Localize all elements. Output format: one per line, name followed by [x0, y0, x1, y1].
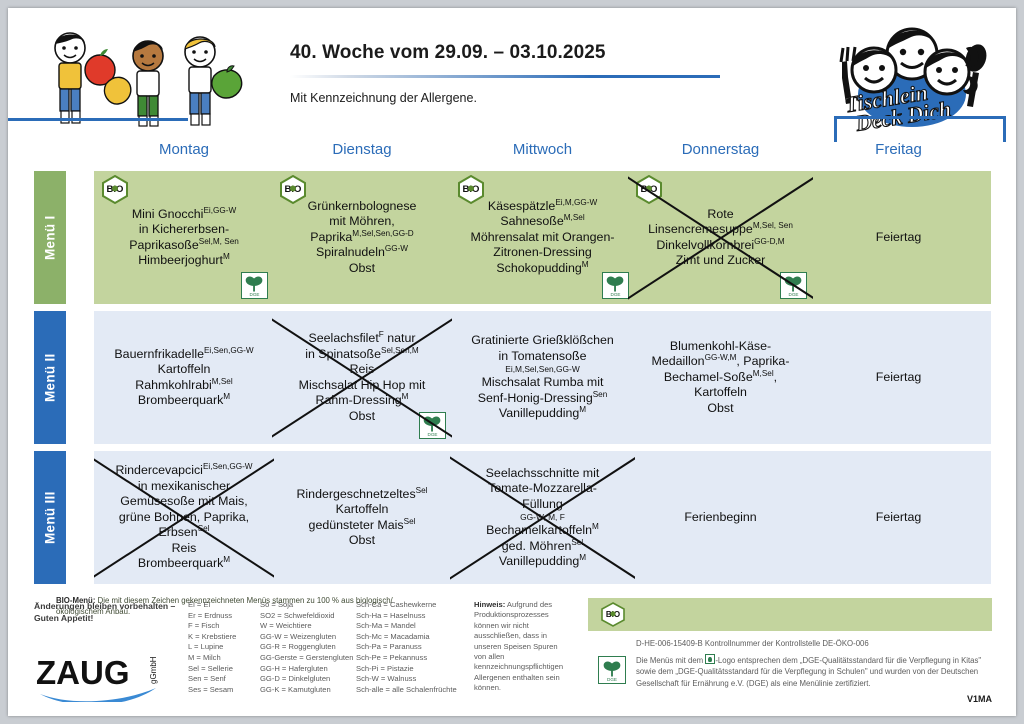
menu-text: Feiertag — [811, 510, 986, 526]
control-number: D-HE-006-15409-B Kontrollnummer der Kont… — [636, 639, 869, 648]
menu-line: Paprikasoße — [129, 238, 199, 252]
menu-line: Seelachsschnitte mit — [486, 466, 600, 480]
dge-icon: DGE — [780, 272, 807, 299]
menu-line: Möhrensalat mit Orangen- — [471, 230, 615, 244]
menu-line: Mini Gnocchi — [132, 207, 204, 221]
dge-icon: DGE — [598, 656, 626, 684]
allergen-code: Sel,Sen,M — [381, 345, 419, 354]
menu-cell-2-montag[interactable]: BauernfrikadelleEi,Sen,GG-W Kartoffeln R… — [94, 311, 274, 444]
menu-line: Kartoffeln — [694, 385, 747, 399]
legend-item: GG-D = Dinkelgluten — [260, 674, 370, 685]
menu-line: mit Möhren, — [329, 214, 394, 228]
menu-line: Rahm-Dressing — [316, 393, 402, 407]
menu-line: Mischsalat Rumba mit — [482, 375, 604, 389]
bio-icon: BIO — [278, 175, 308, 205]
menu-line: Dinkelvollkornbrei — [656, 238, 754, 252]
menu-line: Senf-Honig-Dressing — [478, 391, 593, 405]
legend-item: Sel = Sellerie — [188, 664, 266, 675]
day-header-donnerstag: Donnerstag — [628, 141, 813, 158]
company-suffix: gGmbH — [149, 656, 158, 684]
legend-item: Sch-Pe = Pekannuss — [356, 653, 478, 664]
dge-icon: DGE — [241, 272, 268, 299]
legend-item: GG-W = Weizengluten — [260, 632, 370, 643]
allergen-code: GG-W — [385, 244, 408, 253]
menu-line: Kartoffeln — [158, 362, 211, 376]
day-header-freitag: Freitag — [806, 141, 991, 158]
allergen-code: M — [223, 252, 230, 261]
page-footer: Änderungen bleiben vorbehalten – Guten A… — [8, 590, 1016, 716]
page-header: 40. Woche vom 29.09. – 03.10.2025 Mit Ke… — [8, 8, 1016, 130]
menu-cell-2-dienstag[interactable]: SeelachsfiletF natur in SpinatsoßeSel,Se… — [272, 311, 452, 444]
bio-note-label: BIO-Menü: — [56, 596, 95, 605]
menu-line: Rindercevapcici — [115, 463, 202, 477]
legend-item: Sch-W = Walnuss — [356, 674, 478, 685]
allergen-code: Sel — [416, 485, 428, 494]
allergen-code: M,Sel, Sen — [753, 221, 793, 230]
allergen-code: M,Sel — [753, 369, 774, 378]
menu-cell-1-freitag[interactable]: Feiertag — [806, 171, 991, 304]
menu-line: Gratinierte Grießklößchen — [471, 333, 614, 347]
menu-line: Vanillepudding — [499, 554, 579, 568]
menu-line: Gemüsesoße mit Mais, — [120, 494, 247, 508]
menu-line: Schokopudding — [496, 261, 581, 275]
menu-cell-1-donnerstag[interactable]: BIO Rote LinsencremesuppeM,Sel, Sen Dink… — [628, 171, 813, 304]
menu-text: Grünkernbolognese mit Möhren, PaprikaM,S… — [277, 199, 447, 277]
menu-row-label-3: Menü III — [34, 451, 66, 584]
menu-text: SeelachsfiletF natur in SpinatsoßeSel,Se… — [277, 331, 447, 424]
day-header-mittwoch: Mittwoch — [450, 141, 635, 158]
allergen-code: Sel — [198, 524, 210, 533]
menu-line: Obst — [349, 409, 375, 423]
menu-text: KäsespätzleEi,M,GG-W SahnesoßeM,Sel Möhr… — [455, 199, 630, 277]
menu-line: Sahnesoße — [500, 214, 563, 228]
hinweis-text: Aufgrund des Produktionsprozesses können… — [474, 600, 563, 692]
menu-line: Rahmkohlrabi — [135, 378, 211, 392]
page-title: 40. Woche vom 29.09. – 03.10.2025 — [290, 42, 790, 64]
zaug-ggmbh-logo: ZAUG gGmbH — [34, 650, 184, 702]
legend-item: GG-Gerste = Gerstengluten — [260, 653, 370, 664]
menu-line: Brombeerquark — [138, 556, 223, 570]
menu-line: Zimt und Zucker — [676, 253, 766, 267]
children-with-vegetables-illustration — [28, 22, 263, 132]
menu-cell-3-dienstag[interactable]: RindergeschnetzeltesSel Kartoffeln gedün… — [272, 451, 452, 584]
menu-line-tail: , Paprika- — [736, 354, 789, 368]
allergen-code: M — [223, 392, 230, 401]
menu-line: Rindergeschnetzeltes — [296, 487, 415, 501]
menu-text: Seelachsschnitte mit Tomate-Mozzarella- … — [455, 466, 630, 570]
dge-icon: DGE — [602, 272, 629, 299]
allergen-code: GG-D,M — [754, 236, 784, 245]
legend-item: M = Milch — [188, 653, 266, 664]
legend-item: GG-H = Hafergluten — [260, 664, 370, 675]
allergen-code: M — [579, 405, 586, 414]
menu-line-tail: natur — [384, 331, 416, 345]
legend-item: GG-R = Roggengluten — [260, 642, 370, 653]
dge-inline-icon — [705, 654, 715, 664]
menu-line: in Spinatsoße — [305, 347, 381, 361]
menu-text: Feiertag — [811, 370, 986, 386]
allergen-code: Sen — [593, 390, 608, 399]
menu-line: Obst — [707, 401, 733, 415]
menu-line: Obst — [349, 533, 375, 547]
menu-text: Ferienbeginn — [633, 510, 808, 526]
svg-text:DGE: DGE — [607, 677, 617, 682]
menu-line: Spiralnudeln — [316, 245, 385, 259]
title-divider — [290, 75, 720, 78]
menu-cell-2-freitag[interactable]: Feiertag — [806, 311, 991, 444]
menu-line: Bechamelkartoffeln — [486, 523, 592, 537]
dge-icon: DGE — [419, 412, 446, 439]
company-name: ZAUG — [36, 654, 130, 691]
allergen-line: Ei,M,Sel,Sen,GG-W — [455, 364, 630, 375]
allergen-code: Sel — [404, 516, 416, 525]
menu-line: Mischsalat Hip Hop mit — [299, 378, 426, 392]
menu-grid: Menü I BIO Mini GnocchiEi,GG-W in Kicher… — [34, 171, 991, 586]
menu-line: Paprika — [310, 230, 352, 244]
menu-line: Himbeerjoghurt — [138, 253, 223, 267]
allergen-line: GG-W, M, F — [455, 512, 630, 523]
menu-line: Feiertag — [876, 510, 921, 524]
allergen-code: M — [579, 553, 586, 562]
menu-line: in mexikanischer — [138, 479, 230, 493]
day-header-dienstag: Dienstag — [272, 141, 452, 158]
menu-line: Käsespätzle — [488, 199, 556, 213]
menu-line: Vanillepudding — [499, 406, 579, 420]
allergen-code: M — [582, 260, 589, 269]
menu-line: ged. Möhren — [502, 539, 572, 553]
bio-note-text: BIO-Menü: Die mit diesem Zeichen gekennz… — [56, 595, 404, 617]
menu-line: in Kichererbsen- — [139, 222, 229, 236]
allergen-code: M,Sel,Sen,GG-D — [352, 229, 413, 238]
menu-cell-3-mittwoch[interactable]: Seelachsschnitte mit Tomate-Mozzarella- … — [450, 451, 635, 584]
allergen-code: Ei,Sen,GG-W — [204, 345, 254, 354]
legend-item: K = Krebstiere — [188, 632, 266, 643]
bio-icon: BIO — [634, 175, 664, 205]
allergen-code: Sel,M, Sen — [199, 236, 239, 245]
menu-line-tail: , — [774, 370, 777, 384]
allergen-code: M — [223, 555, 230, 564]
menu-line: Linsencremesuppe — [648, 222, 753, 236]
menu-line: Rote — [707, 207, 733, 221]
hinweis-label: Hinweis: — [474, 600, 505, 609]
menu-line: in Tomatensoße — [499, 349, 587, 363]
bio-icon: BIO — [456, 175, 486, 205]
menu-text: Rote LinsencremesuppeM,Sel, Sen Dinkelvo… — [633, 207, 808, 269]
svg-text:DGE: DGE — [250, 292, 260, 297]
svg-text:DGE: DGE — [789, 292, 799, 297]
menu-text: Blumenkohl-Käse- MedaillonGG-W,M, Paprik… — [633, 339, 808, 417]
allergen-code: Ei,M,GG-W — [555, 198, 597, 207]
menu-cell-3-freitag[interactable]: Feiertag — [806, 451, 991, 584]
menu-line: Feiertag — [876, 230, 921, 244]
svg-text:DGE: DGE — [428, 432, 438, 437]
menu-line: Seelachsfilet — [309, 331, 379, 345]
day-header-row: Montag Dienstag Mittwoch Donnerstag Frei… — [34, 141, 989, 167]
menu-line: Reis — [350, 362, 375, 376]
legend-item: Sch-Ma = Mandel — [356, 621, 478, 632]
menu-cell-3-montag[interactable]: RindercevapciciEi,Sen,GG-W in mexikanisc… — [94, 451, 274, 584]
menu-line: Feiertag — [876, 370, 921, 384]
legend-item: Ses = Sesam — [188, 685, 266, 696]
version-label: V1MA — [967, 694, 992, 704]
legend-item: Sch-alle = alle Schalenfrüchte — [356, 685, 478, 696]
menu-cell-2-mittwoch[interactable]: Gratinierte Grießklößchen in Tomatensoße… — [450, 311, 635, 444]
legend-item: Sch-Pa = Paranuss — [356, 642, 478, 653]
allergen-code: M,Sel — [564, 213, 585, 222]
menu-row-label-2: Menü II — [34, 311, 66, 444]
legend-item: F = Fisch — [188, 621, 266, 632]
menu-text: Feiertag — [811, 230, 986, 246]
menu-line: Zitronen-Dressing — [493, 245, 591, 259]
menu-text: Mini GnocchiEi,GG-W in Kichererbsen- Pap… — [99, 207, 269, 269]
menu-line: Obst — [349, 261, 375, 275]
menu-line: Blumenkohl-Käse- — [670, 339, 771, 353]
day-header-montag: Montag — [94, 141, 274, 158]
legend-item: W = Weichtiere — [260, 621, 370, 632]
menu-line: Reis — [172, 541, 197, 555]
svg-text:DGE: DGE — [611, 292, 621, 297]
allergen-hinweis: Hinweis: Aufgrund des Produktionsprozess… — [474, 600, 566, 694]
menu-cell-2-donnerstag[interactable]: Blumenkohl-Käse- MedaillonGG-W,M, Paprik… — [628, 311, 813, 444]
legend-item: Sch-Pi = Pistazie — [356, 664, 478, 675]
menu-row-label-1: Menü I — [34, 171, 66, 304]
menu-text: RindergeschnetzeltesSel Kartoffeln gedün… — [277, 487, 447, 549]
page-subtitle: Mit Kennzeichnung der Allergene. — [290, 91, 790, 105]
allergen-code: GG-W,M — [705, 353, 737, 362]
menu-line: Medaillon — [652, 354, 705, 368]
menu-line: Tomate-Mozzarella- — [488, 481, 597, 495]
title-block: 40. Woche vom 29.09. – 03.10.2025 Mit Ke… — [290, 42, 790, 105]
legend-item: Sen = Senf — [188, 674, 266, 685]
header-frame-right — [834, 116, 1006, 142]
allergen-code: M — [402, 392, 409, 401]
menu-cell-3-donnerstag[interactable]: Ferienbeginn — [628, 451, 813, 584]
allergen-code: Sel — [571, 537, 583, 546]
menu-line: Kartoffeln — [336, 502, 389, 516]
menu-cell-1-mittwoch[interactable]: BIO KäsespätzleEi,M,GG-W SahnesoßeM,Sel … — [450, 171, 635, 304]
menu-cell-1-dienstag[interactable]: BIO Grünkernbolognese mit Möhren, Paprik… — [272, 171, 452, 304]
menu-line: Brombeerquark — [138, 393, 223, 407]
dge-text-prefix: Die Menüs mit dem — [636, 656, 705, 665]
allergen-code: M — [592, 522, 599, 531]
legend-item: GG-K = Kamutgluten — [260, 685, 370, 696]
menu-line: grüne Bohnen, Paprika, — [119, 510, 249, 524]
menu-line: Grünkernbolognese — [308, 199, 417, 213]
bio-note-banner — [588, 598, 992, 631]
legend-item: Sch-Mc = Macadamia — [356, 632, 478, 643]
header-rule-left — [8, 118, 188, 121]
menu-line: Bauernfrikadelle — [114, 347, 204, 361]
allergen-code: M,Sel — [212, 376, 233, 385]
bio-icon: BIO — [600, 602, 626, 628]
bio-note-body: Die mit diesem Zeichen gekennzeichneten … — [56, 596, 393, 616]
menu-line: gedünsteter Mais — [309, 518, 404, 532]
allergen-code: Ei,Sen,GG-W — [203, 462, 253, 471]
dge-note-text: Die Menüs mit dem -Logo entsprechen dem … — [636, 654, 992, 689]
menu-text: Gratinierte Grießklößchen in Tomatensoße… — [455, 333, 630, 422]
menu-text: RindercevapciciEi,Sen,GG-W in mexikanisc… — [99, 463, 269, 572]
bio-icon: BIO — [100, 175, 130, 205]
menu-line: Ferienbeginn — [684, 510, 756, 524]
menu-line: Erbsen — [158, 525, 197, 539]
allergen-code: Ei,GG-W — [203, 205, 236, 214]
menu-plan-page: 40. Woche vom 29.09. – 03.10.2025 Mit Ke… — [8, 8, 1016, 716]
menu-text: BauernfrikadelleEi,Sen,GG-W Kartoffeln R… — [99, 347, 269, 409]
menu-cell-1-montag[interactable]: BIO Mini GnocchiEi,GG-W in Kichererbsen-… — [94, 171, 274, 304]
menu-line: Bechamel-Soße — [664, 370, 753, 384]
menu-line: Füllung — [522, 497, 563, 511]
legend-item: L = Lupine — [188, 642, 266, 653]
